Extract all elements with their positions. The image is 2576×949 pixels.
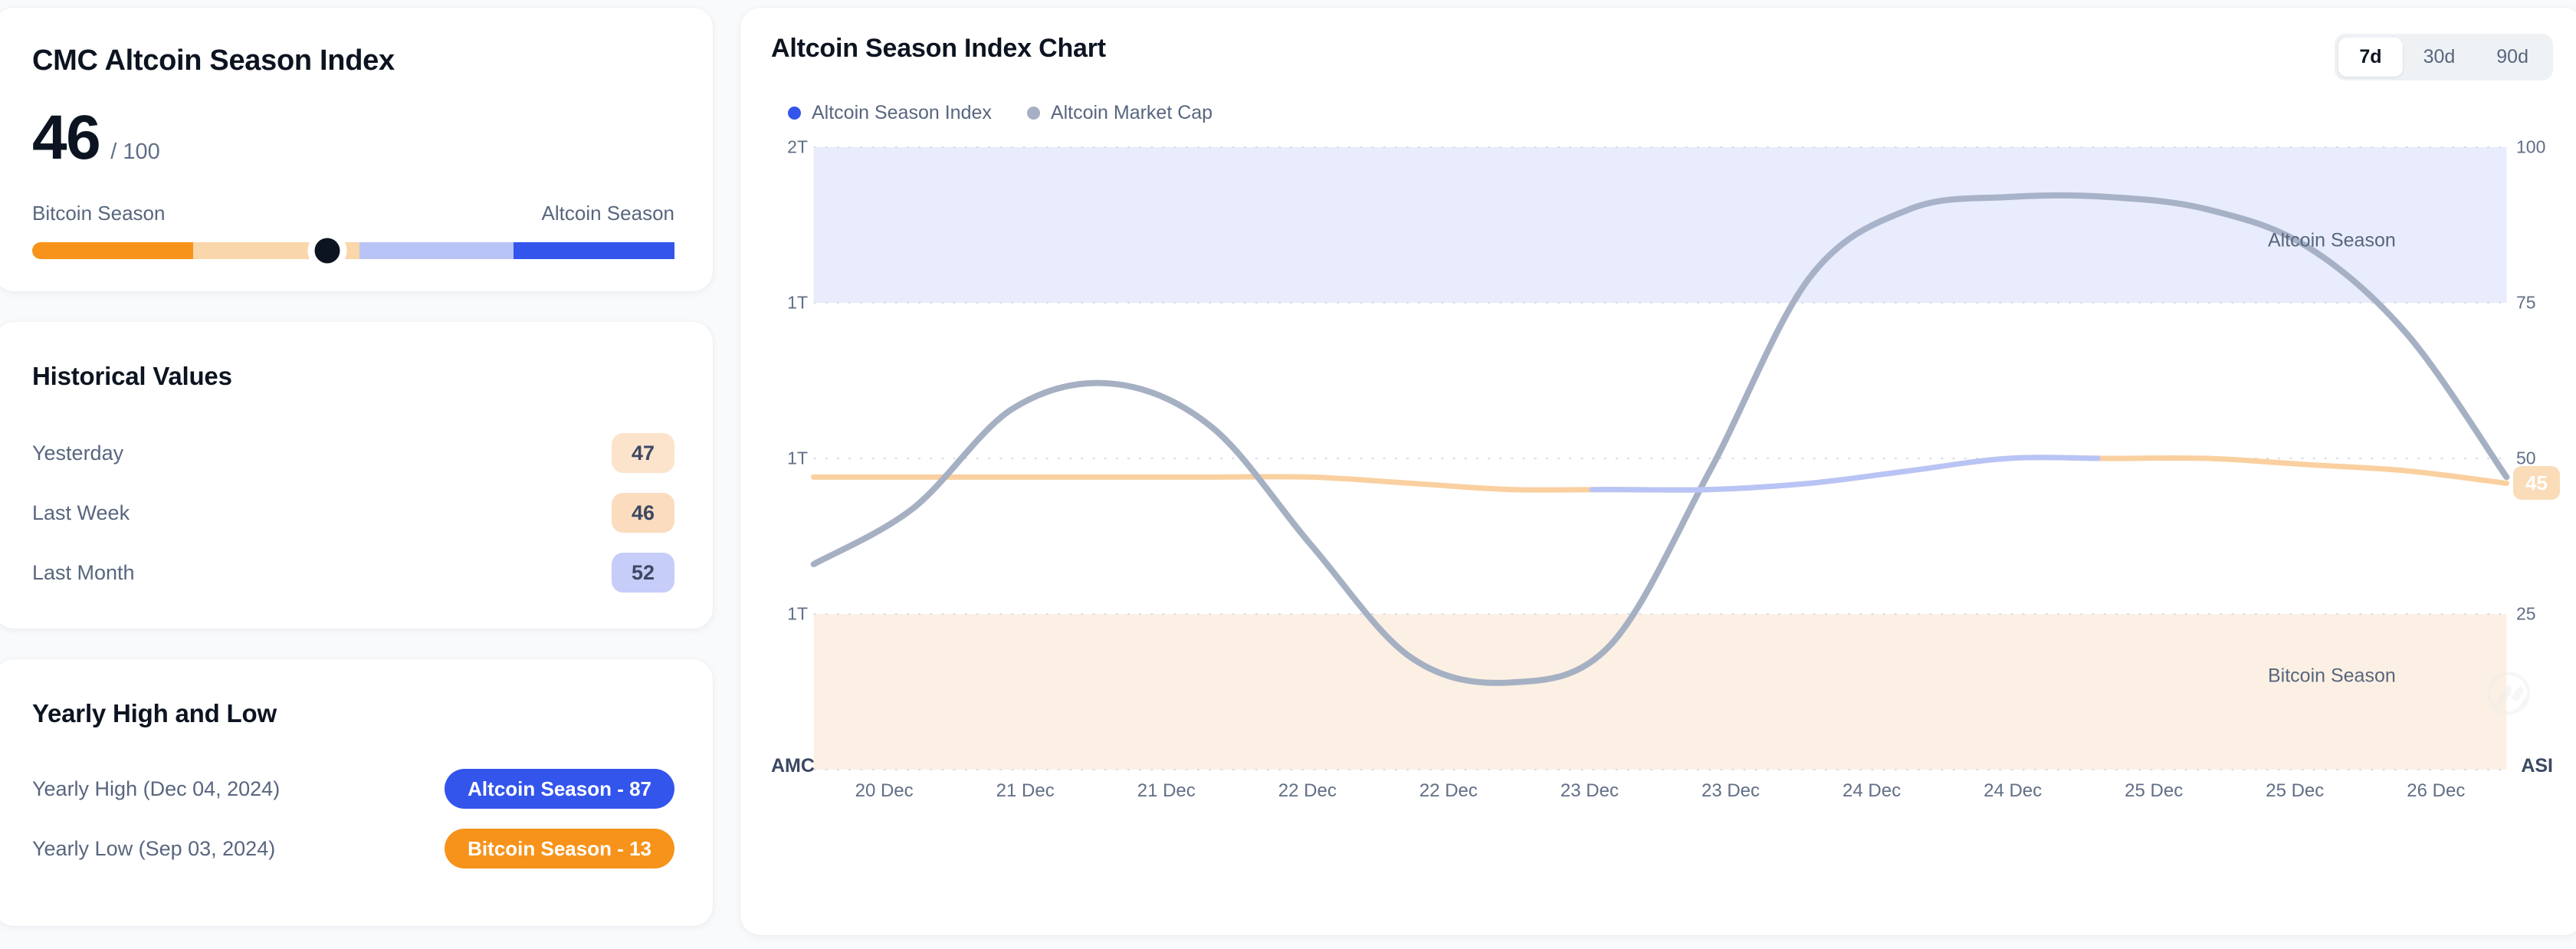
yearly-value-label: Yearly High (Dec 04, 2024) (32, 777, 280, 801)
cmc-altcoin-season-index-card: CMC Altcoin Season Index 46 / 100 Bitcoi… (0, 8, 713, 291)
historical-values-list: Yesterday47Last Week46Last Month52 (32, 423, 674, 603)
season-slider[interactable] (32, 242, 674, 259)
x-axis-tick: 25 Dec (2125, 780, 2183, 802)
x-axis-tick: 24 Dec (1984, 780, 2042, 802)
x-axis-tick: 22 Dec (1419, 780, 1478, 802)
x-axis-tick: 25 Dec (2266, 780, 2324, 802)
slider-segment-altcoin-strong (514, 242, 674, 259)
historical-value-row: Last Week46 (32, 483, 674, 543)
y-axis-right-tick: 75 (2516, 293, 2536, 314)
range-button-7d[interactable]: 7d (2338, 38, 2402, 77)
historical-value-badge: 46 (612, 493, 674, 533)
x-axis-tick: 21 Dec (996, 780, 1055, 802)
historical-value-row: Yesterday47 (32, 423, 674, 483)
yearly-value-badge: Altcoin Season - 87 (445, 769, 674, 809)
band-label-bitcoin-season: Bitcoin Season (2268, 665, 2396, 688)
chart-band (814, 614, 2507, 770)
y-axis-left-tick: 1T (787, 293, 808, 314)
y-axis-left-tick: 1T (787, 604, 808, 625)
yearly-value-row: Yearly Low (Sep 03, 2024)Bitcoin Season … (32, 819, 674, 878)
x-axis-tick: 20 Dec (855, 780, 914, 802)
coinmarketcap-logo-icon (2484, 668, 2533, 721)
historical-value-badge: 52 (612, 553, 674, 593)
y-axis-right-label: ASI (2521, 755, 2553, 777)
chart-legend: Altcoin Season IndexAltcoin Market Cap (788, 102, 2553, 124)
series-line-altcoin-market-cap (814, 458, 2507, 490)
yearly-value-label: Yearly Low (Sep 03, 2024) (32, 837, 275, 861)
slider-segment-altcoin-soft (359, 242, 514, 259)
yearly-value-row: Yearly High (Dec 04, 2024)Altcoin Season… (32, 759, 674, 819)
chart-header: Altcoin Season Index Chart 7d30d90d (771, 34, 2553, 80)
index-score-value: 46 (32, 110, 100, 166)
yearly-value-badge: Bitcoin Season - 13 (445, 829, 674, 869)
bitcoin-season-label: Bitcoin Season (32, 202, 165, 225)
x-axis-tick: 24 Dec (1843, 780, 1901, 802)
historical-value-row: Last Month52 (32, 543, 674, 603)
chart-x-axis: 20 Dec21 Dec21 Dec22 Dec22 Dec23 Dec23 D… (771, 776, 2553, 816)
range-button-30d[interactable]: 30d (2403, 38, 2476, 77)
historical-value-label: Last Week (32, 501, 130, 525)
x-axis-tick: 26 Dec (2407, 780, 2465, 802)
y-axis-left-tick: 1T (787, 448, 808, 469)
historical-values-title: Historical Values (32, 362, 674, 391)
yearly-high-low-list: Yearly High (Dec 04, 2024)Altcoin Season… (32, 759, 674, 878)
legend-item[interactable]: Altcoin Season Index (788, 102, 992, 124)
chart-title: Altcoin Season Index Chart (771, 34, 1106, 64)
left-column: CMC Altcoin Season Index 46 / 100 Bitcoi… (0, 0, 713, 949)
season-slider-knob[interactable] (315, 238, 340, 263)
legend-dot-icon (788, 107, 801, 120)
yearly-high-low-card: Yearly High and Low Yearly High (Dec 04,… (0, 659, 713, 926)
x-axis-tick: 21 Dec (1137, 780, 1196, 802)
historical-value-label: Yesterday (32, 442, 123, 465)
altcoin-season-index-chart-card: Altcoin Season Index Chart 7d30d90d Altc… (740, 8, 2576, 935)
y-axis-left-tick: 2T (787, 137, 808, 158)
historical-values-card: Historical Values Yesterday47Last Week46… (0, 322, 713, 629)
altcoin-season-label: Altcoin Season (542, 202, 674, 225)
legend-dot-icon (1027, 107, 1040, 120)
x-axis-tick: 23 Dec (1701, 780, 1760, 802)
legend-item[interactable]: Altcoin Market Cap (1027, 102, 1213, 124)
legend-label: Altcoin Market Cap (1051, 102, 1213, 124)
slider-segment-bitcoin-strong (32, 242, 193, 259)
altcoin-season-page: CMC Altcoin Season Index 46 / 100 Bitcoi… (0, 0, 2576, 949)
index-score-row: 46 / 100 (32, 110, 674, 166)
index-score-denominator: / 100 (110, 140, 160, 165)
historical-value-badge: 47 (612, 433, 674, 473)
current-value-badge: 45 (2513, 466, 2560, 500)
range-button-90d[interactable]: 90d (2476, 38, 2549, 77)
y-axis-right-tick: 50 (2516, 448, 2536, 469)
band-label-altcoin-season: Altcoin Season (2268, 229, 2396, 251)
x-axis-tick: 22 Dec (1278, 780, 1337, 802)
historical-value-label: Last Month (32, 561, 135, 585)
page-title: CMC Altcoin Season Index (32, 44, 674, 77)
legend-label: Altcoin Season Index (812, 102, 992, 124)
yearly-high-low-title: Yearly High and Low (32, 699, 674, 728)
x-axis-tick: 23 Dec (1560, 780, 1619, 802)
y-axis-right-tick: 25 (2516, 604, 2536, 625)
season-slider-labels: Bitcoin Season Altcoin Season (32, 202, 674, 225)
y-axis-right-tick: 100 (2516, 137, 2545, 158)
chart-plot-area[interactable]: 2T1T1T1TAMC100755025ASIAltcoin SeasonBit… (771, 141, 2553, 816)
time-range-selector[interactable]: 7d30d90d (2335, 34, 2553, 80)
y-axis-left-label: AMC (771, 755, 815, 777)
